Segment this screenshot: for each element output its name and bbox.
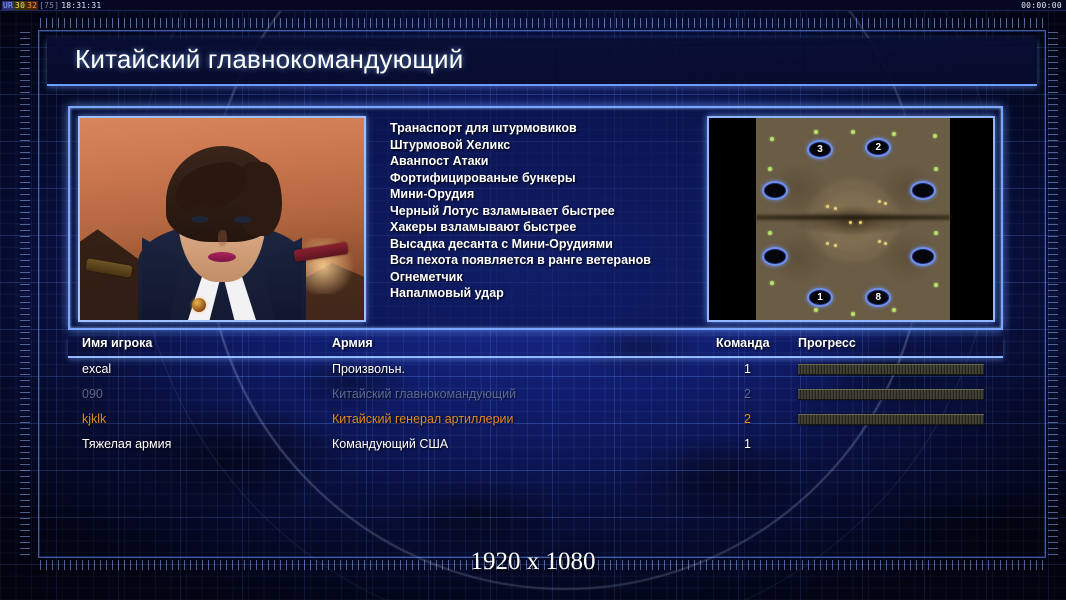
status-timer: 00:00:00 — [1021, 0, 1062, 11]
player-name: excal — [82, 362, 111, 376]
table-row[interactable]: excalПроизвольн.1 — [68, 358, 1003, 383]
ruler-top-decoration — [40, 18, 1046, 28]
player-team[interactable]: 2 — [744, 412, 751, 426]
player-army[interactable]: Китайский главнокомандующий — [332, 387, 516, 401]
player-list-header: Имя игрока Армия Команда Прогресс — [68, 336, 1003, 358]
status-value-2: 32 — [26, 1, 38, 10]
player-army[interactable]: Произвольн. — [332, 362, 405, 376]
page-title: Китайский главнокомандующий — [75, 44, 463, 75]
resolution-label: 1920 x 1080 — [0, 548, 1066, 576]
status-clock: 18:31:31 — [60, 1, 102, 10]
player-team[interactable]: 1 — [744, 437, 751, 451]
player-army[interactable]: Китайский генерал артиллерии — [332, 412, 514, 426]
player-name: kjklk — [82, 412, 106, 426]
map-resource-dot — [768, 231, 772, 235]
top-status-bar: UR3032[75]18:31:31 00:00:00 — [0, 0, 1066, 11]
map-resource-dot — [770, 137, 774, 141]
player-name: 090 — [82, 387, 103, 401]
column-header-progress: Прогресс — [798, 336, 856, 350]
player-army[interactable]: Командующий США — [332, 437, 448, 451]
map-supply-dot — [884, 242, 887, 245]
map-terrain: 3218 — [756, 118, 950, 322]
status-value-1: 30 — [14, 1, 26, 10]
map-supply-dot — [826, 242, 829, 245]
column-header-team: Команда — [716, 336, 770, 350]
ability-item: Фортифицированые бункеры — [390, 170, 690, 187]
game-lobby-screen: UR3032[75]18:31:31 00:00:00 Китайский гл… — [0, 0, 1066, 600]
column-header-name: Имя игрока — [82, 336, 152, 350]
ability-item: Напалмовый удар — [390, 285, 690, 302]
ruler-left-decoration — [20, 32, 30, 557]
player-name: Тяжелая армия — [82, 437, 171, 451]
status-bracket: [75] — [38, 1, 60, 10]
map-supply-dot — [878, 240, 881, 243]
portrait-eye-right — [234, 216, 252, 223]
map-supply-dot — [859, 221, 862, 224]
portrait-eye-left — [191, 216, 209, 223]
map-supply-dot — [826, 205, 829, 208]
map-supply-dot — [834, 244, 837, 247]
status-tag: UR — [2, 1, 14, 10]
player-team[interactable]: 2 — [744, 387, 751, 401]
status-left-readout: UR3032[75]18:31:31 — [2, 0, 102, 11]
map-resource-dot — [851, 312, 855, 316]
player-team[interactable]: 1 — [744, 362, 751, 376]
faction-ability-list: Транаспорт для штурмовиковШтурмовой Хели… — [390, 120, 690, 302]
table-row[interactable]: Тяжелая армияКомандующий США1 — [68, 433, 1003, 458]
ability-item: Мини-Орудия — [390, 186, 690, 203]
map-spawn-point[interactable]: 2 — [865, 138, 891, 157]
player-progress-bar — [798, 364, 984, 375]
player-progress-bar — [798, 389, 984, 400]
player-progress-bar — [798, 414, 984, 425]
ability-item: Хакеры взламывают быстрее — [390, 219, 690, 236]
map-spawn-point[interactable] — [910, 247, 936, 266]
table-row[interactable]: 090Китайский главнокомандующий2 — [68, 383, 1003, 408]
table-row[interactable]: kjklkКитайский генерал артиллерии2 — [68, 408, 1003, 433]
map-terrain-shading — [756, 118, 950, 322]
ability-item: Огнеметчик — [390, 269, 690, 286]
portrait-lips — [208, 252, 236, 262]
map-resource-dot — [814, 308, 818, 312]
general-portrait — [78, 116, 366, 322]
faction-info-panel: Транаспорт для штурмовиковШтурмовой Хели… — [68, 106, 1003, 330]
ability-item: Черный Лотус взламывает быстрее — [390, 203, 690, 220]
ability-item: Вся пехота появляется в ранге ветеранов — [390, 252, 690, 269]
ability-item: Высадка десанта с Мини-Орудиями — [390, 236, 690, 253]
map-supply-dot — [834, 207, 837, 210]
portrait-medal-pin — [192, 298, 206, 312]
ruler-right-decoration — [1048, 32, 1058, 557]
title-bar: Китайский главнокомандующий — [47, 38, 1037, 86]
portrait-nose — [218, 230, 227, 246]
column-header-army: Армия — [332, 336, 373, 350]
player-list: Имя игрока Армия Команда Прогресс excalП… — [68, 336, 1003, 548]
map-preview[interactable]: 3218 — [707, 116, 995, 322]
ability-item: Аванпост Атаки — [390, 153, 690, 170]
map-river — [756, 215, 950, 220]
map-spawn-point[interactable] — [910, 181, 936, 200]
map-resource-dot — [770, 281, 774, 285]
player-list-body: excalПроизвольн.1090Китайский главнокома… — [68, 358, 1003, 458]
ability-item: Штурмовой Хеликс — [390, 137, 690, 154]
map-spawn-point[interactable]: 3 — [807, 140, 833, 159]
ability-item: Транаспорт для штурмовиков — [390, 120, 690, 137]
map-resource-dot — [892, 308, 896, 312]
